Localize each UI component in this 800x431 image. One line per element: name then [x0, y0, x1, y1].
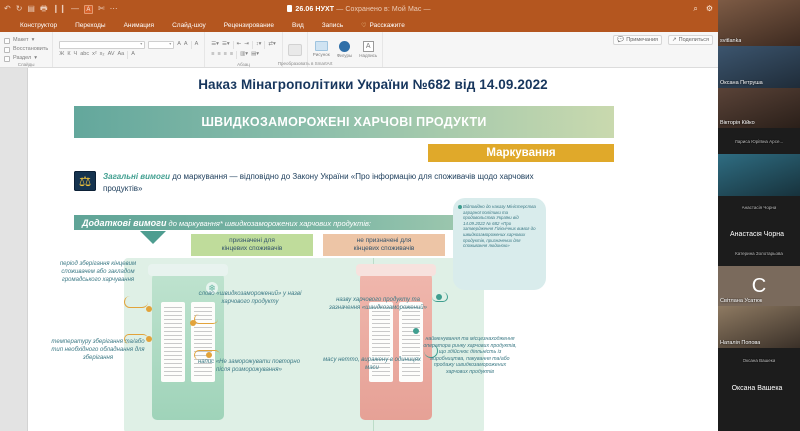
- strikethrough-button[interactable]: abc: [80, 51, 89, 58]
- law-book-icon: [74, 171, 96, 191]
- picture-icon[interactable]: [315, 41, 328, 51]
- tab-animaciya[interactable]: Анимация: [124, 22, 155, 29]
- bullets-icon[interactable]: ☰▾: [211, 41, 219, 48]
- titlebar-actions[interactable]: ⌕ ⚙: [693, 4, 713, 14]
- connector-left-bottom: [124, 334, 148, 344]
- connector-right-top: [432, 292, 448, 302]
- shrink-font-icon[interactable]: A: [184, 41, 188, 48]
- lightbulb-icon: ♡: [361, 22, 366, 29]
- participant-tile[interactable]: svitlanka: [718, 0, 800, 46]
- screen: ↶ ↻ ▤ 🖶 ❙❙ — A ✄ ⋯ 26.06 НУХТ — Сохранен…: [0, 0, 800, 431]
- document-icon: [287, 5, 292, 12]
- participant-tile[interactable]: Анастасія Чорна: [718, 196, 800, 218]
- package-top: [148, 264, 228, 276]
- title-bar: ↶ ↻ ▤ 🖶 ❙❙ — A ✄ ⋯ 26.06 НУХТ — Сохранен…: [0, 0, 718, 18]
- bold-button[interactable]: Ж: [59, 51, 64, 58]
- participant-name: svitlanka: [720, 38, 741, 44]
- document-title: 26.06 НУХТ — Сохранено в: Мой Mac —: [0, 5, 718, 13]
- line-spacing-icon[interactable]: ↕▾: [256, 41, 262, 48]
- note-far-right: найменування та місцезнаходження операто…: [423, 336, 517, 376]
- participant-tile[interactable]: Анастасія Чорна: [718, 218, 800, 240]
- shapes-icon[interactable]: [339, 41, 350, 52]
- tab-tell-me[interactable]: ♡ Расскажите: [361, 22, 405, 29]
- participants-rail[interactable]: svitlanka Оксана Петруша Вікторія Кійко …: [718, 0, 800, 431]
- general-requirements-block: Загальні вимоги до маркування — відповід…: [74, 171, 574, 194]
- category-intended: призначені для кінцевих споживачів: [191, 234, 313, 256]
- note-far-right-wrap: найменування та місцезнаходження операто…: [423, 336, 517, 376]
- italic-button[interactable]: К: [67, 51, 70, 58]
- participant-tile[interactable]: Оксана Петруша: [718, 46, 800, 88]
- footnote-bubble: Відповідно до наказу Міністерства аграрн…: [453, 198, 546, 290]
- participant-name: Анастасія Чорна: [718, 231, 796, 238]
- marking-badge-label: Маркування: [486, 147, 555, 159]
- package-top: [356, 264, 436, 276]
- comment-icon: 💬: [617, 37, 624, 43]
- package-label-left: [161, 302, 185, 382]
- grow-font-icon[interactable]: A: [177, 41, 181, 48]
- tab-tell-me-label: Расскажите: [369, 22, 404, 29]
- note-mid-top: слово «швидкозаморожений» у назві харчов…: [196, 290, 304, 306]
- increase-indent-icon[interactable]: ⇥: [244, 41, 249, 48]
- category-intended-line1: призначені для: [229, 237, 275, 246]
- align-right-icon[interactable]: ≡: [224, 51, 227, 58]
- participant-name: Оксана Вашека: [718, 385, 796, 392]
- picture-label[interactable]: Рисунок: [313, 51, 330, 58]
- layout-icon[interactable]: [4, 38, 10, 44]
- note-right-top: назву харчового продукту та зазначення «…: [324, 296, 432, 312]
- textbox-label[interactable]: Надпись: [359, 52, 377, 59]
- ribbon-body[interactable]: Макет▾ Восстановить Раздел▾ Слайды A A: [0, 32, 718, 68]
- connector-mid-top: [194, 314, 218, 324]
- underline-button[interactable]: Ч: [74, 51, 78, 58]
- participant-tile[interactable]: Наталія Попова: [718, 306, 800, 348]
- slide-canvas[interactable]: Наказ Мінагрополітики України №682 від 1…: [28, 68, 718, 431]
- font-family-input[interactable]: [59, 41, 145, 49]
- connector-left-top: [124, 296, 148, 308]
- ribbon-group-smartart[interactable]: Преобразовать в SmartArt: [283, 32, 308, 67]
- participant-name: Світлана Усатюк: [720, 298, 762, 304]
- ribbon-group-font[interactable]: A A A Ж К Ч abc x² x₂ AV Aa: [53, 32, 205, 67]
- participant-tile[interactable]: Оксана Вашека: [718, 348, 800, 372]
- ribbon-group-paragraph[interactable]: ☰▾ ☰▾ ⇤ ⇥ ↕▾ ⇄▾ ≡ ≡ ≡ ≡: [205, 32, 283, 67]
- tab-slide-show[interactable]: Слайд-шоу: [172, 22, 206, 29]
- category-not-intended-line2: кінцевих споживачів: [354, 245, 415, 254]
- search-icon[interactable]: ⌕: [693, 4, 697, 14]
- clear-formatting-icon[interactable]: A: [195, 41, 199, 48]
- pink-package-illustration: [360, 270, 432, 420]
- additional-requirements-rest: до маркування* швидкозаморожених харчови…: [166, 219, 371, 228]
- section-icon[interactable]: [4, 56, 10, 62]
- footnote-dot: [458, 205, 462, 209]
- product-banner: ШВИДКОЗАМОРОЖЕНІ ХАРЧОВІ ПРОДУКТИ: [74, 106, 614, 138]
- layout-label[interactable]: Макет: [13, 37, 29, 44]
- text-direction-icon[interactable]: ⇄▾: [268, 41, 275, 48]
- numbering-icon[interactable]: ☰▾: [222, 41, 230, 48]
- ribbon-group-insert[interactable]: Рисунок Фигуры A Надпись: [308, 32, 383, 67]
- tab-recenzirovanie[interactable]: Рецензирование: [224, 22, 274, 29]
- share-icon-small: ↗: [672, 37, 677, 43]
- comments-label: Примечания: [626, 37, 658, 43]
- tab-vid[interactable]: Вид: [292, 22, 304, 29]
- participant-name: Лариса Юріївна Арсе...: [735, 139, 783, 144]
- align-text-icon[interactable]: ▤▾: [251, 51, 259, 58]
- participant-name: Наталія Попова: [720, 340, 760, 346]
- participant-name: Вікторія Кійко: [720, 120, 755, 126]
- powerpoint-window: ↶ ↻ ▤ 🖶 ❙❙ — A ✄ ⋯ 26.06 НУХТ — Сохранен…: [0, 0, 718, 431]
- smartart-icon[interactable]: [288, 44, 302, 56]
- change-case-button[interactable]: Aa: [118, 51, 125, 58]
- ribbon-tabs[interactable]: Конструктор Переходы Анимация Слайд-шоу …: [0, 18, 718, 32]
- tab-zapis[interactable]: Запись: [322, 22, 343, 29]
- participant-tile[interactable]: Оксана Вашека: [718, 372, 800, 394]
- category-not-intended: не призначені для кінцевих споживачів: [323, 234, 445, 256]
- note-left-top: період зберігання кінцевим споживачем аб…: [46, 260, 150, 284]
- arrow-down-left-icon: [140, 231, 166, 244]
- slides-group-label: Слайды: [18, 62, 35, 67]
- participant-name: Анастасія Чорна: [742, 205, 777, 210]
- reset-label[interactable]: Восстановить: [13, 46, 48, 53]
- tab-perehody[interactable]: Переходы: [75, 22, 106, 29]
- subscript-button[interactable]: x₂: [100, 51, 105, 58]
- ribbon-right-actions[interactable]: 💬 Примечания ↗ Поделиться: [613, 32, 718, 67]
- participant-tile[interactable]: С Світлана Усатюк: [718, 266, 800, 306]
- char-spacing-button[interactable]: AV: [108, 51, 115, 58]
- paragraph-group-label: Абзац: [237, 62, 250, 67]
- save-state: — Сохранено в: Мой Mac —: [336, 6, 430, 13]
- connector-mid-bottom: [194, 350, 220, 360]
- participant-name: Катерина Золотарьова: [735, 251, 783, 256]
- superscript-button[interactable]: x²: [92, 51, 97, 58]
- general-requirements-text: Загальні вимоги до маркування — відповід…: [103, 171, 574, 194]
- thumbnail-pane[interactable]: [0, 68, 28, 431]
- general-requirements-lead: Загальні вимоги: [103, 172, 170, 181]
- footnote-text: Відповідно до наказу Міністерства аграрн…: [463, 204, 540, 249]
- comments-button[interactable]: 💬 Примечания: [613, 35, 662, 45]
- share-icon[interactable]: ⚙: [706, 4, 713, 14]
- slide-stage: Наказ Мінагрополітики України №682 від 1…: [0, 68, 718, 431]
- category-intended-line2: кінцевих споживачів: [222, 245, 283, 254]
- font-color-button[interactable]: A: [131, 51, 135, 58]
- additional-requirements-lead: Додаткові вимоги: [82, 218, 166, 228]
- font-size-input[interactable]: [148, 41, 174, 49]
- decrease-indent-icon[interactable]: ⇤: [237, 41, 242, 48]
- participant-tile[interactable]: Лариса Юріївна Арсе...: [718, 128, 800, 154]
- justify-icon[interactable]: ≡: [230, 51, 233, 58]
- textbox-icon[interactable]: A: [363, 41, 374, 52]
- product-banner-label: ШВИДКОЗАМОРОЖЕНІ ХАРЧОВІ ПРОДУКТИ: [201, 115, 486, 129]
- note-right-bottom: масу нетто, виражену в одиницях маси: [320, 356, 424, 372]
- note-mid-bottom: напис «Не заморожувати повторно після ро…: [194, 358, 304, 374]
- columns-icon[interactable]: ▥▾: [240, 51, 248, 58]
- participant-tile[interactable]: Катерина Золотарьова: [718, 240, 800, 266]
- reset-icon[interactable]: [4, 47, 10, 53]
- document-name: 26.06 НУХТ: [295, 6, 334, 13]
- additional-requirements-band: Додаткові вимоги до маркування* швидкоза…: [74, 215, 514, 230]
- shapes-label[interactable]: Фигуры: [337, 52, 353, 59]
- smartart-label: Преобразовать в SmartArt: [278, 61, 312, 66]
- marking-badge: Маркування: [428, 144, 614, 162]
- ribbon-group-slides[interactable]: Макет▾ Восстановить Раздел▾ Слайды: [0, 32, 53, 67]
- participant-tile[interactable]: Вікторія Кійко: [718, 88, 800, 128]
- additional-requirements-text: Додаткові вимоги до маркування* швидкоза…: [82, 218, 371, 228]
- participant-name: Оксана Петруша: [720, 80, 763, 86]
- participant-tile[interactable]: [718, 154, 800, 196]
- align-left-icon[interactable]: ≡: [211, 51, 214, 58]
- share-button[interactable]: ↗ Поделиться: [668, 35, 713, 45]
- tab-konstruktor[interactable]: Конструктор: [20, 22, 57, 29]
- category-not-intended-line1: не призначені для: [357, 237, 412, 246]
- note-dot-far-right: [413, 328, 419, 334]
- align-center-icon[interactable]: ≡: [217, 51, 220, 58]
- slide-title: Наказ Мінагрополітики України №682 від 1…: [28, 68, 718, 92]
- share-label: Поделиться: [679, 37, 709, 43]
- participant-name: Оксана Вашека: [743, 358, 776, 363]
- note-dot-left-top: [146, 306, 152, 312]
